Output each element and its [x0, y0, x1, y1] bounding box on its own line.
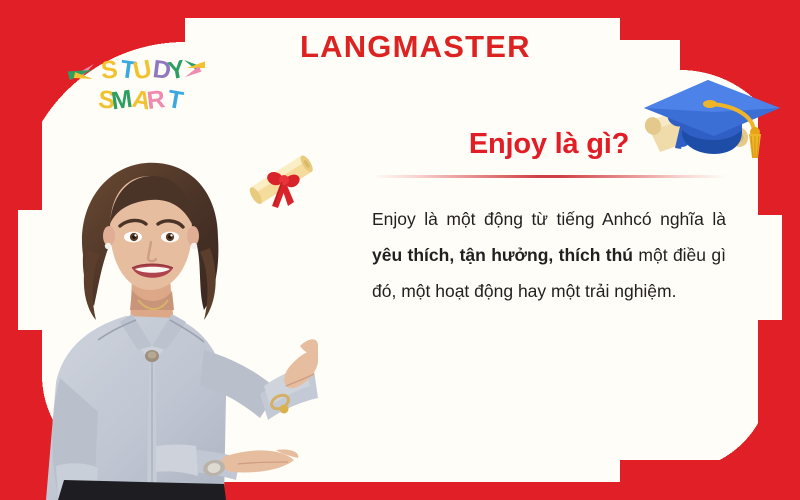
page-title: Enjoy là gì? — [372, 128, 726, 161]
study-letter-Y: Y — [166, 55, 188, 86]
study-letter-S: S — [100, 55, 119, 84]
langmaster-wordmark: LANGMASTER — [300, 31, 500, 62]
poster-canvas: STUDYSMART LANGMASTER — [0, 0, 800, 500]
body-paragraph: Enjoy là một động từ tiếng Anhcó nghĩa l… — [372, 202, 726, 310]
frame-band-top-right — [620, 0, 800, 40]
frame-band-bottom-right — [620, 460, 800, 500]
study-smart-logo: STUDYSMART — [60, 26, 205, 118]
study-letter-group-0: S — [100, 55, 119, 84]
smart-letter-group-3: R — [145, 85, 166, 115]
title-divider — [372, 175, 726, 178]
smart-letter-T: T — [165, 85, 185, 115]
smart-letter-group-4: T — [165, 85, 185, 115]
content-panel: Enjoy là gì? Enjoy là một động từ tiếng … — [372, 128, 726, 310]
logo-letters: STUDYSMART — [97, 55, 187, 116]
body-emphasis-1: yêu thích, tận hưởng, thích thú — [372, 245, 633, 265]
smart-letter-R: R — [145, 85, 166, 115]
study-letter-group-4: Y — [166, 55, 188, 86]
diploma-scroll-icon — [236, 140, 328, 222]
body-run-0: Enjoy là một động từ tiếng Anhcó nghĩa l… — [372, 209, 726, 229]
